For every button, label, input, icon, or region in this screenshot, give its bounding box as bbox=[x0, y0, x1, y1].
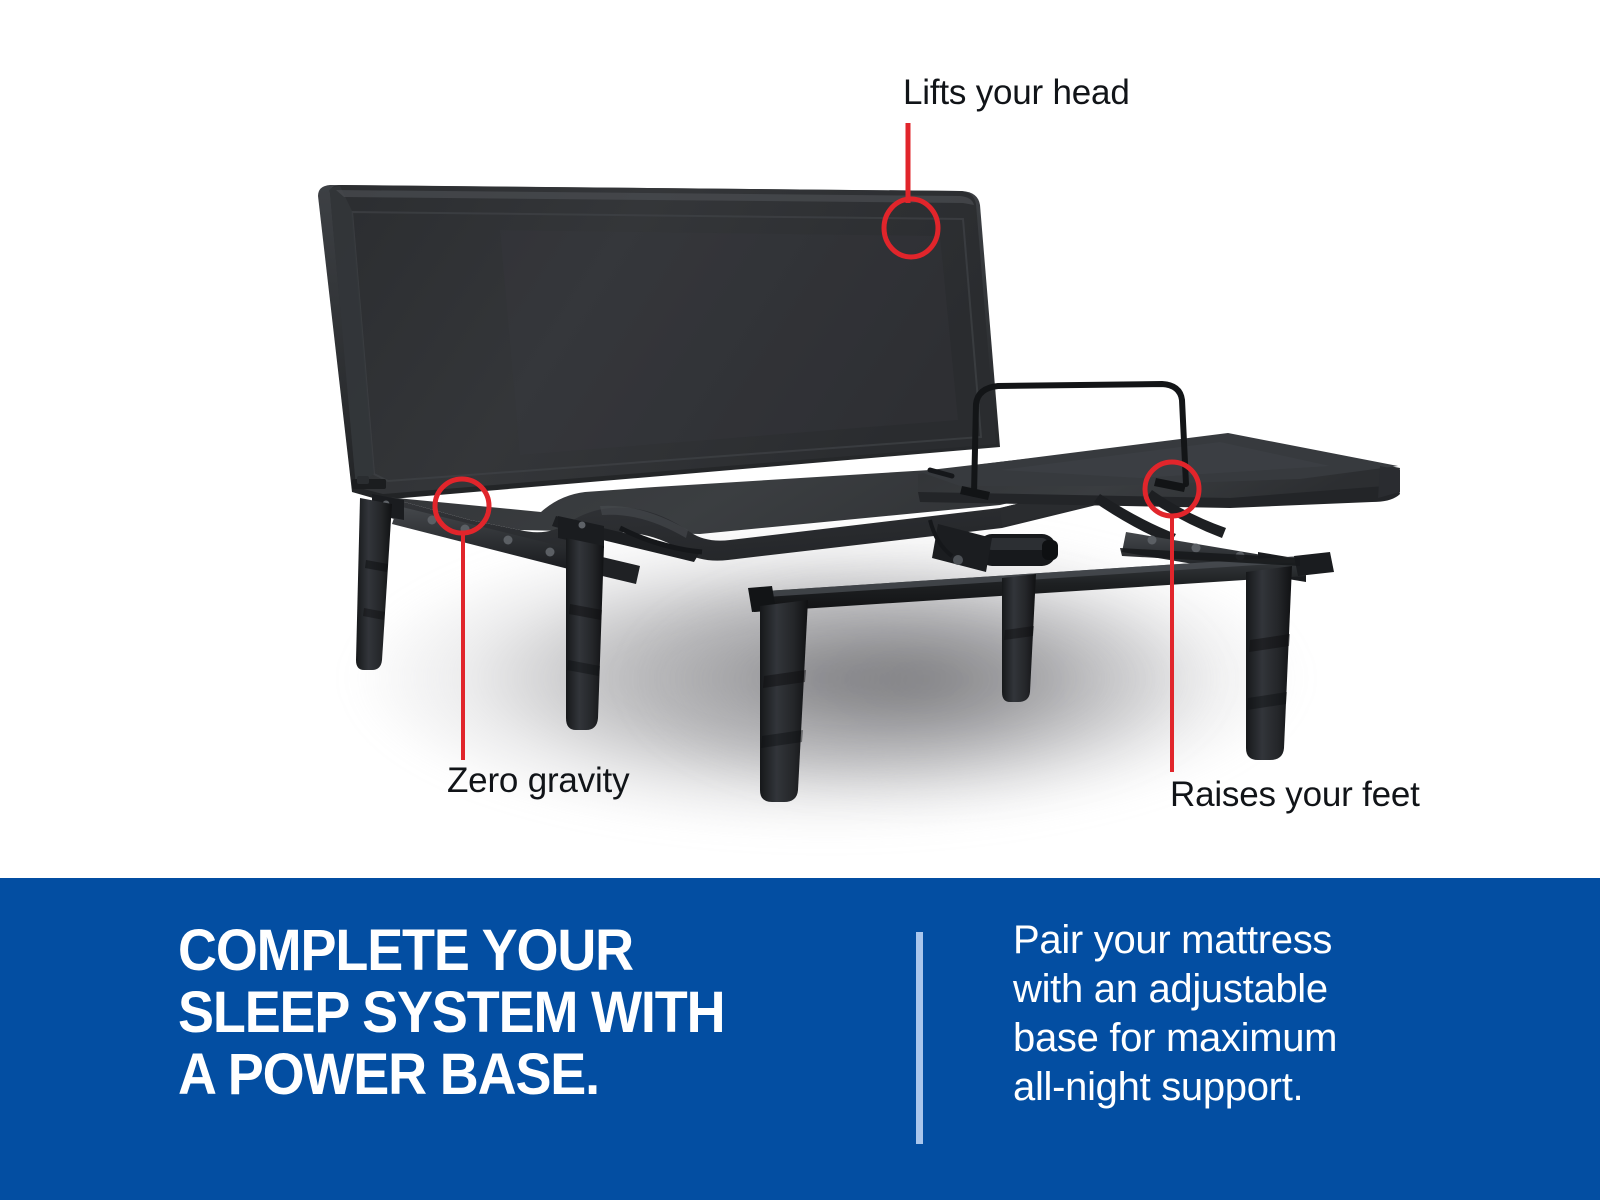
blue-promo-banner: COMPLETE YOUR SLEEP SYSTEM WITH A POWER … bbox=[0, 878, 1600, 1200]
subcopy-line-1: Pair your mattress bbox=[1013, 916, 1433, 965]
vertical-divider bbox=[916, 932, 923, 1144]
banner-headline: COMPLETE YOUR SLEEP SYSTEM WITH A POWER … bbox=[178, 920, 829, 1106]
promo-banner-image: Lifts your head Zero gravity Raises your… bbox=[0, 0, 1600, 1200]
annotation-label-raises-your-feet: Raises your feet bbox=[1170, 775, 1420, 815]
headline-line-2: SLEEP SYSTEM WITH bbox=[178, 982, 829, 1044]
annotation-marker-zero-gravity bbox=[435, 479, 489, 760]
banner-subcopy: Pair your mattress with an adjustable ba… bbox=[1013, 916, 1433, 1112]
product-hero-photo: Lifts your head Zero gravity Raises your… bbox=[0, 0, 1600, 878]
annotation-marker-lifts-your-head bbox=[884, 123, 938, 257]
headline-line-1: COMPLETE YOUR bbox=[178, 920, 829, 982]
subcopy-line-2: with an adjustable bbox=[1013, 965, 1433, 1014]
annotation-marker-raises-your-feet bbox=[1145, 462, 1199, 772]
subcopy-line-4: all-night support. bbox=[1013, 1063, 1433, 1112]
annotation-label-zero-gravity: Zero gravity bbox=[447, 761, 629, 801]
annotation-markers-layer bbox=[0, 0, 1600, 878]
annotation-label-lifts-your-head: Lifts your head bbox=[903, 73, 1130, 113]
subcopy-line-3: base for maximum bbox=[1013, 1014, 1433, 1063]
headline-line-3: A POWER BASE. bbox=[178, 1044, 829, 1106]
